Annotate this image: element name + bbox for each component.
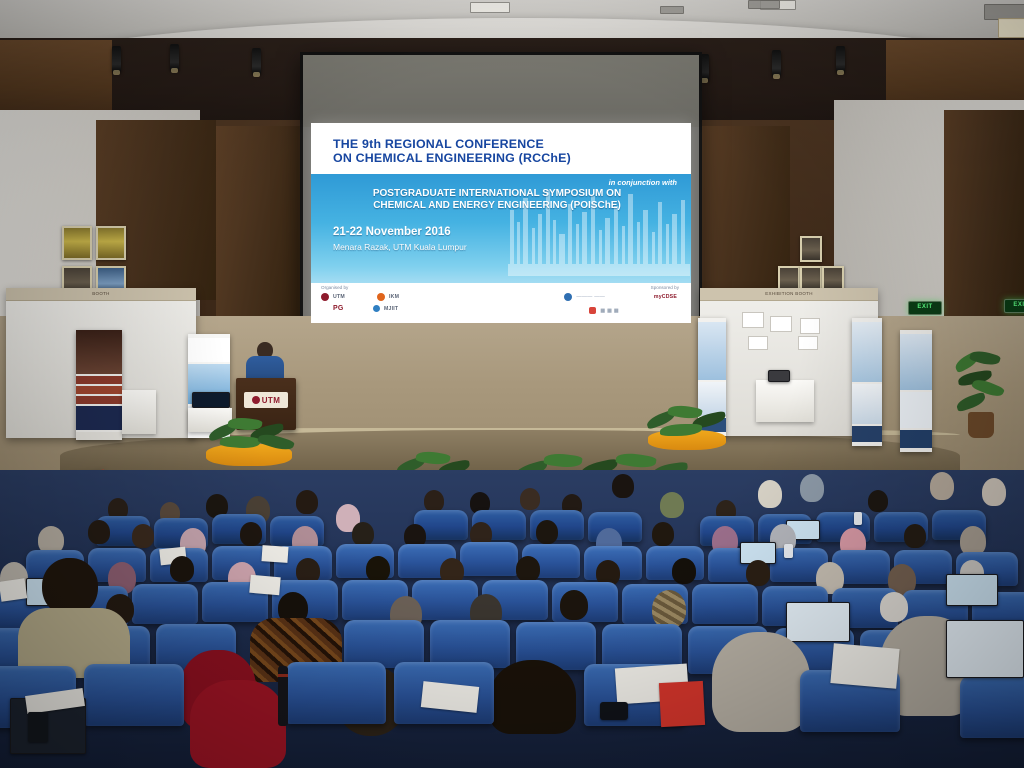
attendee-paper[interactable] <box>249 575 280 596</box>
logo-sponsor: myCDSE <box>654 294 677 300</box>
stage-plant-right <box>644 404 730 438</box>
attendee-head-hijab <box>190 680 286 768</box>
attendee-head-hijab <box>800 474 824 502</box>
attendee-head-hijab <box>712 632 810 732</box>
banner-bar <box>76 396 122 404</box>
attendee-head <box>672 558 696 584</box>
roll-up-banner-left-booth <box>76 330 122 440</box>
exit-sign: EXIT <box>1004 299 1024 313</box>
audience-seat[interactable] <box>430 620 510 668</box>
attendee-paper[interactable] <box>659 681 705 727</box>
organised-by-caption: Organised by <box>321 285 348 290</box>
banner-title-area <box>188 338 230 362</box>
slide-venue: Menara Razak, UTM Kuala Lumpur <box>333 242 467 252</box>
attendee-head <box>366 556 390 582</box>
booth-poster <box>798 336 818 350</box>
stage-spotlight <box>112 46 121 72</box>
attendee-head <box>868 490 888 512</box>
attendee-laptop[interactable] <box>946 620 1024 678</box>
banner-body-area <box>852 322 882 382</box>
slide-symposium-line-1: POSTGRADUATE INTERNATIONAL SYMPOSIUM ON <box>311 188 683 200</box>
booth-header-right: EXHIBITION BOOTH <box>700 288 878 301</box>
logo-pg: PG <box>333 305 344 312</box>
attendee-head <box>746 560 770 586</box>
logo-utm: UTM <box>321 293 345 301</box>
attendee-phone[interactable] <box>600 702 628 720</box>
plant-leaf <box>660 424 702 436</box>
logo-label: PG <box>333 305 344 312</box>
attendee-head-hijab <box>930 472 954 500</box>
booth-poster <box>800 318 820 334</box>
attendee-head <box>536 520 558 544</box>
plant-leaf <box>543 451 582 469</box>
laptop-screen <box>193 393 229 407</box>
audience-seat[interactable] <box>344 620 424 668</box>
stage-spotlight <box>836 46 845 72</box>
attendee-head-hijab <box>982 478 1006 506</box>
banner-body-area <box>900 392 932 428</box>
globe-icon <box>564 293 572 301</box>
attendee-head <box>612 474 634 498</box>
logo-label: MJIIT <box>384 306 398 312</box>
logo-sponsor-mark-2: ▦ ▦ ▦ <box>589 307 619 314</box>
audience-seat[interactable] <box>692 584 758 624</box>
sponsor-icon <box>589 307 596 314</box>
podium-logo-label: UTM <box>262 396 281 405</box>
banner-body-area <box>852 384 882 424</box>
attendee-head <box>132 524 154 548</box>
screen-blank-area <box>303 55 699 127</box>
logo-line: ——— —— <box>576 294 605 300</box>
attendee-head <box>520 488 540 510</box>
ceiling-vent <box>660 6 684 14</box>
banner-body-area <box>900 334 932 390</box>
stage-spotlight <box>772 50 781 76</box>
wall-portrait <box>96 226 126 260</box>
slide-title-line-2: ON CHEMICAL ENGINEERING (RCChE) <box>333 151 673 165</box>
logo-sponsor-mark: ——— —— <box>564 293 605 301</box>
exit-sign-label: EXIT <box>1005 300 1024 311</box>
banner-footer <box>76 432 122 440</box>
laptop-screen <box>787 603 849 641</box>
utm-logo-icon <box>321 293 329 301</box>
stage-plant-left <box>206 416 298 452</box>
attendee-paper[interactable] <box>0 578 27 601</box>
attendee-head-hijab <box>660 492 684 518</box>
banner-image-area <box>76 330 122 374</box>
booth-desk-right <box>756 380 814 422</box>
exit-sign-label: EXIT <box>909 302 941 313</box>
booth-poster <box>770 316 792 332</box>
booth-header-left: BOOTH <box>6 288 196 301</box>
logo-label: UTM <box>333 294 345 300</box>
attendee-head <box>240 522 262 546</box>
banner-text-block <box>76 406 122 430</box>
attendee-head <box>880 592 908 622</box>
logo-label: IKM <box>389 294 399 300</box>
banner-bar <box>76 386 122 394</box>
plant-pot <box>968 412 994 438</box>
slide-symposium-line-2: CHEMICAL AND ENERGY ENGINEERING (POISChE… <box>311 200 683 212</box>
wall-portrait <box>800 236 822 262</box>
audience-seat[interactable] <box>84 664 184 726</box>
audience-seat[interactable] <box>132 584 198 624</box>
wall-portrait <box>62 226 92 260</box>
attendee-laptop[interactable] <box>946 574 998 606</box>
stage-spotlight <box>170 44 179 70</box>
stage-spotlight <box>252 48 261 74</box>
attendee-head <box>296 490 318 514</box>
roll-up-banner-right-c <box>900 330 932 452</box>
slide-date: 21-22 November 2016 <box>333 226 451 238</box>
screenshot-root: EXIT EXIT THE 9th REGIONAL CONFERENCE ON… <box>0 0 1024 768</box>
logo-line: ▦ ▦ ▦ <box>600 308 619 314</box>
utm-crest-icon <box>252 396 260 404</box>
attendee-paper[interactable] <box>261 545 288 563</box>
wood-pillar-center-left <box>216 126 302 326</box>
attendee-paper[interactable] <box>830 643 899 689</box>
potted-plant-right <box>952 352 1012 442</box>
mic-ring <box>278 674 288 677</box>
booth-desk-left <box>122 390 156 434</box>
laptop-screen <box>769 371 789 381</box>
laptop-screen <box>947 575 997 605</box>
attendee-head <box>516 556 540 582</box>
ceiling-light <box>470 2 510 13</box>
logo-mjiit: MJIIT <box>373 305 398 312</box>
projection-screen: THE 9th REGIONAL CONFERENCE ON CHEMICAL … <box>300 52 702 354</box>
attendee-head-hijab <box>652 590 686 628</box>
attendee-head <box>170 556 194 582</box>
attendee-head <box>652 522 674 546</box>
attendee-phone[interactable] <box>784 544 793 558</box>
attendee-head <box>88 520 110 544</box>
booth-device <box>768 370 790 382</box>
audience-seat[interactable] <box>960 676 1024 738</box>
audience-seat[interactable] <box>286 662 386 724</box>
ceiling-light <box>998 18 1024 38</box>
attendee-head <box>490 660 576 734</box>
podium-logo-plaque: UTM <box>244 392 288 408</box>
attendee-head <box>560 590 588 620</box>
audience-seat[interactable] <box>460 542 518 576</box>
plant-leaf <box>615 451 657 471</box>
attendee-laptop[interactable] <box>786 602 850 642</box>
attendee-head <box>424 490 444 512</box>
slide-title-block: THE 9th REGIONAL CONFERENCE ON CHEMICAL … <box>311 123 691 174</box>
banner-footer <box>852 426 882 442</box>
slide-conjunction-text: in conjunction with <box>609 178 677 187</box>
laptop-screen <box>947 621 1023 677</box>
slide-symposium-block: POSTGRADUATE INTERNATIONAL SYMPOSIUM ON … <box>311 188 683 212</box>
logo-label: myCDSE <box>654 294 677 300</box>
booth-sign-label: BOOTH <box>6 288 196 300</box>
attendee-phone[interactable] <box>854 512 862 525</box>
audience-area <box>0 470 1024 768</box>
microphone-stand[interactable] <box>278 666 288 726</box>
booth-sign-label: EXHIBITION BOOTH <box>700 288 878 300</box>
logo-ikm: IKM <box>377 293 399 301</box>
presenter-laptop <box>192 392 230 408</box>
attendee-head-hijab <box>758 480 782 508</box>
mjiit-logo-icon <box>373 305 380 312</box>
presentation-slide: THE 9th REGIONAL CONFERENCE ON CHEMICAL … <box>311 123 691 323</box>
banner-body-area <box>698 322 726 380</box>
ikm-logo-icon <box>377 293 385 301</box>
slide-title-line-1: THE 9th REGIONAL CONFERENCE <box>333 137 673 151</box>
slide-logo-strip: Organised by Sponsored by UTM IKM PG MJI… <box>311 283 691 323</box>
exit-sign: EXIT <box>908 301 942 315</box>
attendee-phone[interactable] <box>28 712 48 742</box>
banner-footer <box>900 430 932 448</box>
attendee-head <box>904 524 926 548</box>
roll-up-banner-right-b <box>852 318 882 446</box>
attendee-head <box>352 522 374 546</box>
plant-leaf <box>955 392 987 413</box>
banner-bar <box>76 376 122 384</box>
plant-leaf <box>969 348 1001 368</box>
booth-poster <box>742 312 764 328</box>
sponsored-by-caption: Sponsored by <box>651 285 679 290</box>
booth-poster <box>748 336 768 350</box>
ceiling-vent <box>748 0 780 9</box>
